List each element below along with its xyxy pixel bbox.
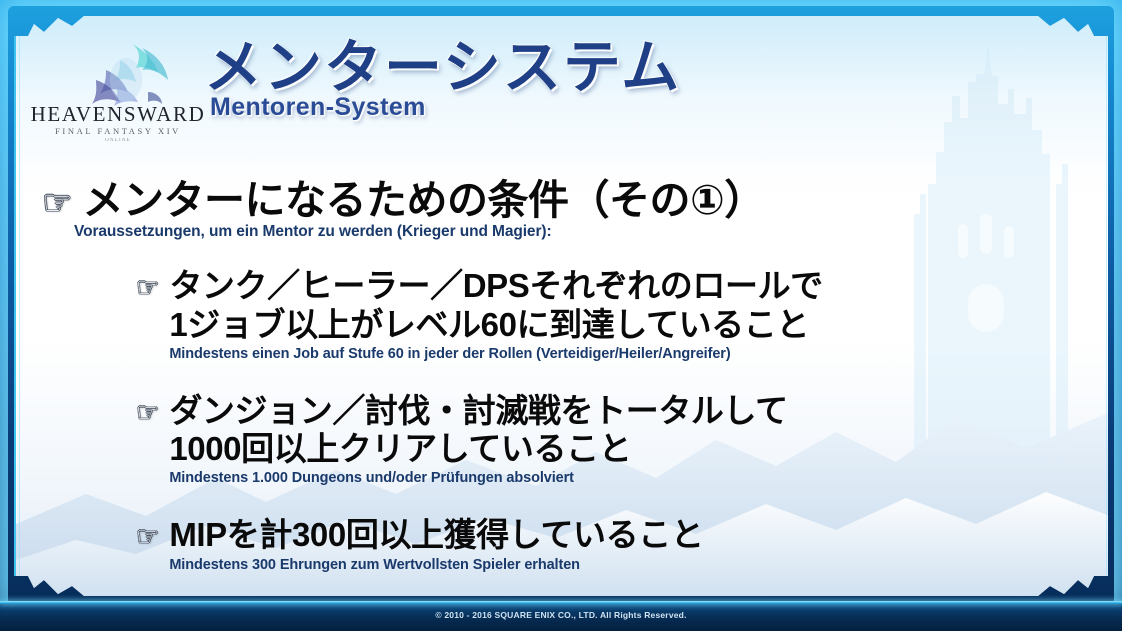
- footer-accent-line: [0, 601, 1122, 604]
- bullet-item: ☞ MIPを計300回以上獲得していること Mindestens 300 Ehr…: [136, 516, 1110, 572]
- slide-footer: © 2010 - 2016 SQUARE ENIX CO., LTD. All …: [0, 601, 1122, 631]
- bullet-text-block: タンク／ヒーラー／DPSそれぞれのロールで 1ジョブ以上がレベル60に到達してい…: [169, 267, 822, 362]
- logo-tagline: ONLINE: [28, 138, 208, 143]
- copyright-text: © 2010 - 2016 SQUARE ENIX CO., LTD. All …: [0, 610, 1122, 620]
- bullet-german: Mindestens einen Job auf Stufe 60 in jed…: [169, 346, 822, 362]
- bullet-japanese-line2: 1000回以上クリアしていること: [169, 430, 787, 468]
- heading-row: ☞ メンターになるための条件（その①）: [42, 178, 1110, 222]
- pointing-hand-icon: ☞: [136, 274, 159, 300]
- slide-title-japanese: メンターシステム: [204, 38, 681, 97]
- heavensward-logo: HEAVENSWARD FINAL FANTASY XIV ONLINE: [28, 40, 208, 152]
- bullet-german: Mindestens 1.000 Dungeons und/oder Prüfu…: [169, 470, 787, 486]
- heading-block: ☞ メンターになるための条件（その①） Voraussetzungen, um …: [16, 178, 1110, 241]
- slide-content: ☞ メンターになるための条件（その①） Voraussetzungen, um …: [16, 170, 1110, 573]
- slide-header: HEAVENSWARD FINAL FANTASY XIV ONLINE メンタ…: [16, 12, 1110, 162]
- heading-japanese: メンターになるための条件（その①）: [82, 178, 764, 222]
- bullet-text-block: MIPを計300回以上獲得していること Mindestens 300 Ehrun…: [169, 516, 703, 572]
- slide-title-block: メンターシステム Mentoren-System: [204, 38, 681, 122]
- presentation-slide: HEAVENSWARD FINAL FANTASY XIV ONLINE メンタ…: [0, 0, 1122, 631]
- bullet-text-block: ダンジョン／討伐・討滅戦をトータルして 1000回以上クリアしていること Min…: [169, 392, 787, 487]
- bullet-japanese-line1: MIPを計300回以上獲得していること: [169, 516, 703, 554]
- slide-card: HEAVENSWARD FINAL FANTASY XIV ONLINE メンタ…: [14, 10, 1112, 606]
- bullet-item: ☞ ダンジョン／討伐・討滅戦をトータルして 1000回以上クリアしていること M…: [136, 392, 1110, 487]
- bullet-item: ☞ タンク／ヒーラー／DPSそれぞれのロールで 1ジョブ以上がレベル60に到達し…: [136, 267, 1110, 362]
- logo-franchise: FINAL FANTASY XIV: [28, 126, 208, 136]
- bullet-japanese-line1: タンク／ヒーラー／DPSそれぞれのロールで: [169, 267, 822, 305]
- bullet-japanese-line1: ダンジョン／討伐・討滅戦をトータルして: [169, 392, 787, 430]
- pointing-hand-icon: ☞: [42, 186, 72, 220]
- logo-title: HEAVENSWARD: [28, 102, 208, 127]
- bullet-japanese-line2: 1ジョブ以上がレベル60に到達していること: [169, 306, 822, 344]
- pointing-hand-icon: ☞: [136, 399, 159, 425]
- pointing-hand-icon: ☞: [136, 523, 159, 549]
- heading-german: Voraussetzungen, um ein Mentor zu werden…: [74, 223, 1110, 241]
- bullet-german: Mindestens 300 Ehrungen zum Wertvollsten…: [169, 557, 703, 573]
